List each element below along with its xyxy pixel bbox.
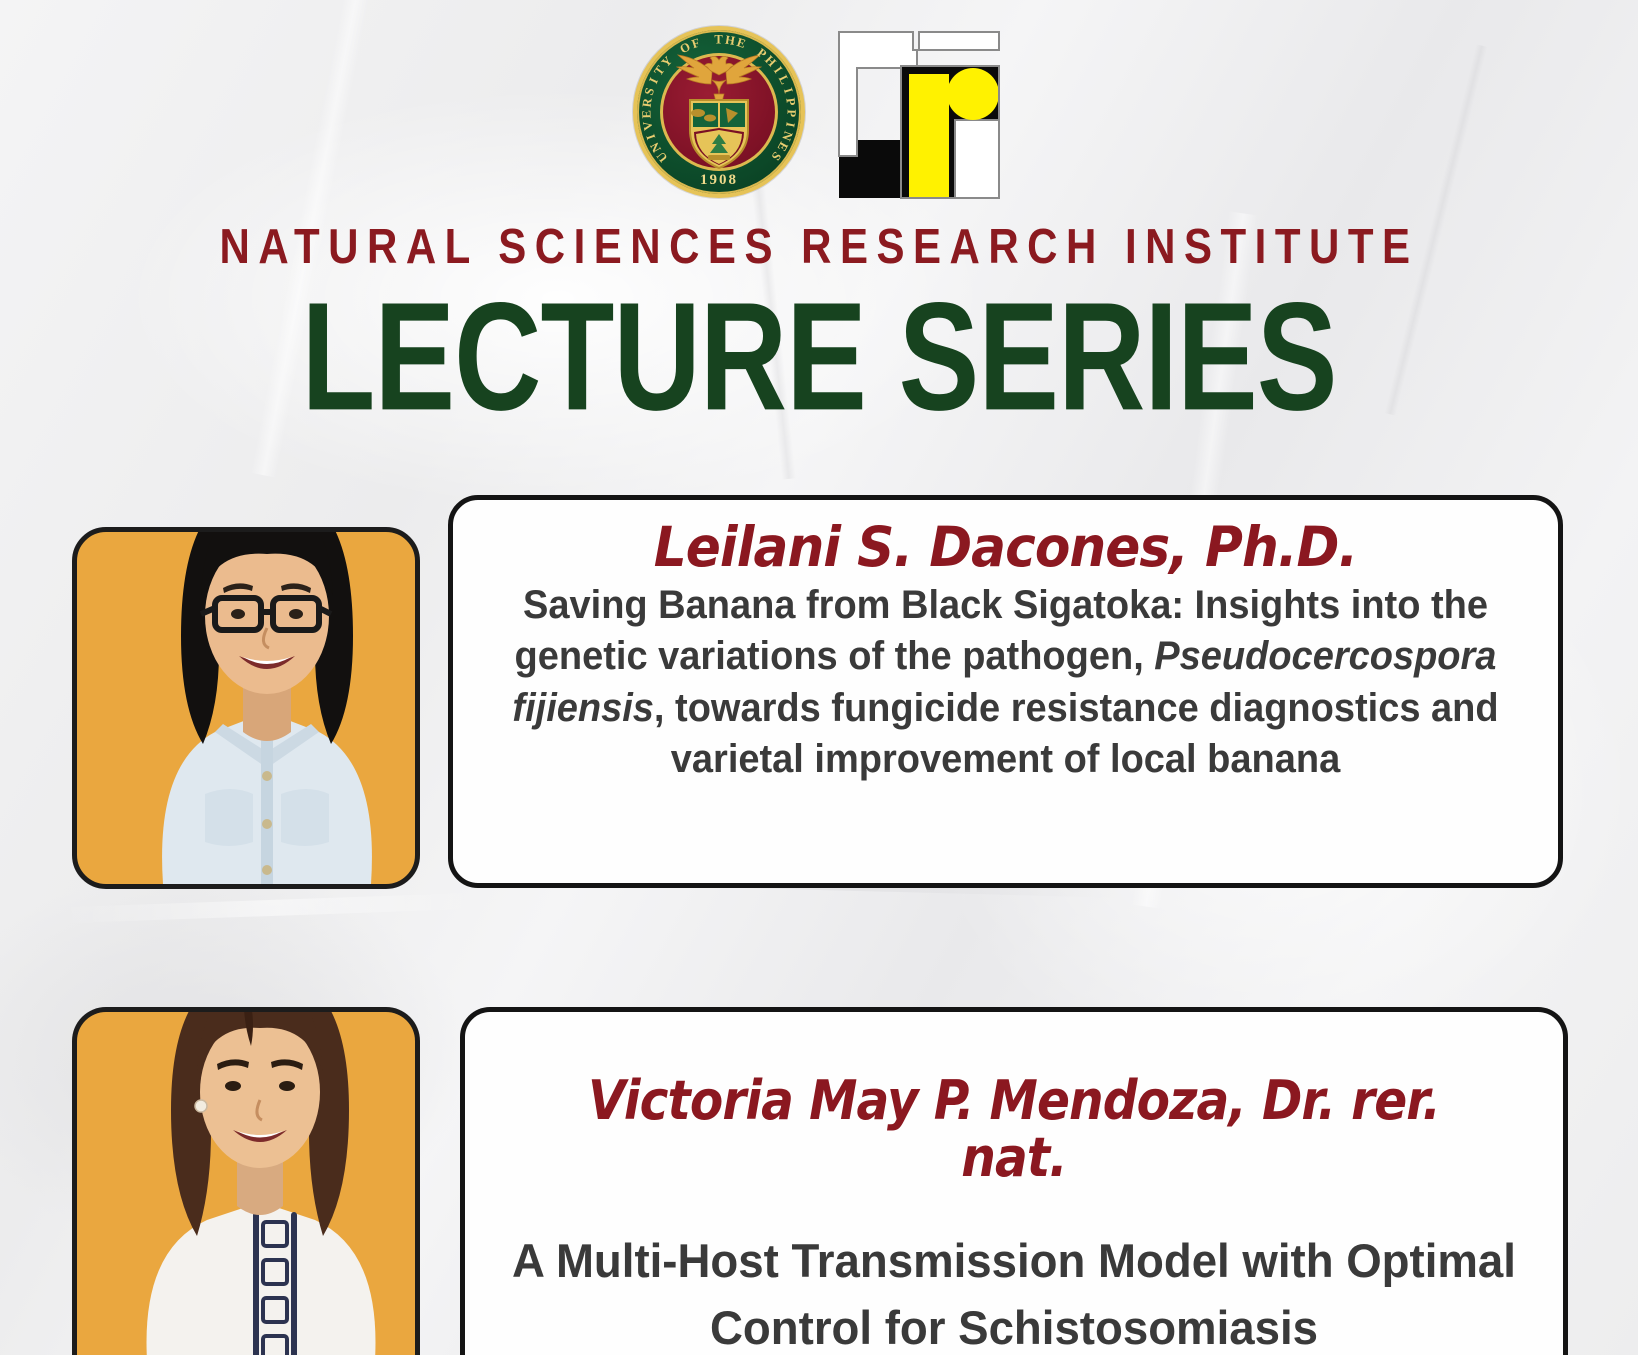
marble-vein [60, 893, 480, 924]
page-title: LECTURE SERIES [33, 280, 1605, 434]
speaker-photo-card [72, 527, 420, 889]
talk-title: A Multi-Host Transmission Model with Opt… [507, 1228, 1522, 1355]
nsri-logo-icon [833, 28, 1005, 202]
portrait-victoria-may-mendoza [95, 1007, 420, 1355]
portrait-leilani-dacones [103, 527, 420, 884]
speaker-name: Leilani S. Dacones, Ph.D. [511, 518, 1501, 576]
logo-row: UNIVERSITY OF THE PHILIPPINES 1908 [0, 14, 1638, 214]
speaker-name: Victoria May P. Mendoza, Dr. rer. nat. [543, 1072, 1484, 1186]
university-of-the-philippines-seal-icon: UNIVERSITY OF THE PHILIPPINES 1908 [633, 26, 805, 198]
organization-name: NATURAL SCIENCES RESEARCH INSTITUTE [0, 218, 1638, 275]
talk-title: Saving Banana from Black Sigatoka: Insig… [505, 580, 1505, 785]
speaker-text-card: Victoria May P. Mendoza, Dr. rer. nat. A… [460, 1007, 1568, 1355]
poster-root: UNIVERSITY OF THE PHILIPPINES 1908 NATUR… [0, 0, 1638, 1355]
speaker-text-card: Leilani S. Dacones, Ph.D. Saving Banana … [448, 495, 1563, 888]
speaker-photo-card [72, 1007, 420, 1355]
seal-year: 1908 [700, 172, 738, 189]
